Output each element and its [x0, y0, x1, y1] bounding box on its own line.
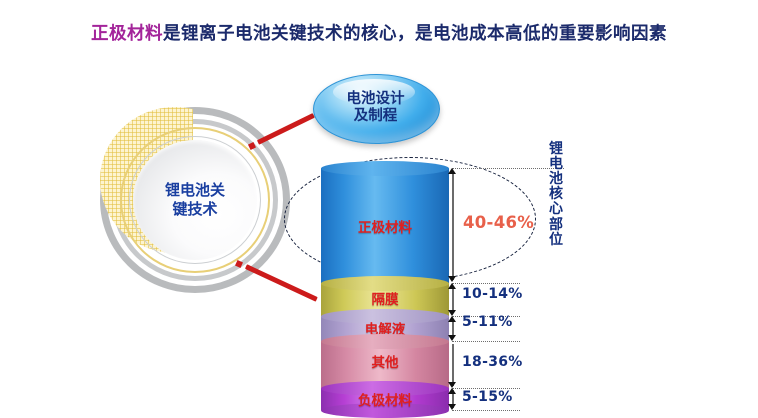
measure-line-separator: [452, 286, 454, 313]
vnote-char-3: 核: [546, 187, 566, 202]
leader-line-separator-top: [452, 283, 520, 284]
arrow-up-electrolyte: [448, 316, 456, 322]
segment-top-cap: [321, 161, 449, 176]
arrow-down-cathode: [448, 276, 456, 282]
arrow-up-separator: [448, 283, 456, 289]
callout-line1: 电池设计: [347, 91, 405, 108]
title-rest: 是锂离子电池关键技术的核心，是电池成本高低的重要影响因素: [163, 24, 667, 44]
percent-label-other: 18-36%: [462, 354, 523, 370]
arrow-up-cathode: [448, 168, 456, 174]
title-highlight: 正极材料: [91, 24, 163, 44]
callout-line2: 及制程: [354, 108, 398, 125]
percent-label-electrolyte: 5-11%: [462, 314, 513, 330]
vnote-char-6: 位: [546, 233, 566, 248]
measure-line-cathode: [452, 171, 454, 280]
callout-label: 电池设计 及制程: [313, 74, 438, 142]
vnote-char-1: 电: [546, 157, 566, 172]
logo-label-line2: 键技术: [172, 200, 217, 219]
segment-label-other: 其他: [321, 351, 449, 371]
slide-canvas: 正极材料是锂离子电池关键技术的核心，是电池成本高低的重要影响因素 锂电池关 键技…: [0, 0, 758, 402]
other-top-cap: [321, 334, 449, 349]
percent-label-anode: 5-15%: [462, 389, 513, 405]
percent-label-cathode: 40-46%: [463, 213, 534, 232]
vnote-char-5: 部: [546, 218, 566, 233]
battery-cylinder: 正极材料 隔膜 电解液 其他 负极材料: [321, 168, 449, 396]
segment-label-anode: 负极材料: [321, 389, 449, 409]
vnote-char-0: 锂: [546, 142, 566, 157]
logo-label: 锂电池关 键技术: [133, 140, 257, 260]
page-title: 正极材料是锂离子电池关键技术的核心，是电池成本高低的重要影响因素: [0, 20, 758, 45]
segment-label-separator: 隔膜: [321, 288, 449, 308]
arrow-up-anode: [448, 388, 456, 394]
percent-label-separator: 10-14%: [462, 286, 523, 302]
logo-label-line1: 锂电池关: [165, 181, 225, 200]
leader-line-electrolyte-bottom: [452, 341, 520, 342]
leader-line-anode-bottom: [452, 410, 520, 411]
segment-label-cathode: 正极材料: [321, 216, 449, 236]
core-part-vertical-note: 锂 电 池 核 心 部 位: [546, 142, 566, 248]
key-technology-logo: 锂电池关 键技术: [100, 107, 290, 293]
vnote-char-4: 心: [546, 202, 566, 217]
measure-line-other: [452, 344, 454, 386]
